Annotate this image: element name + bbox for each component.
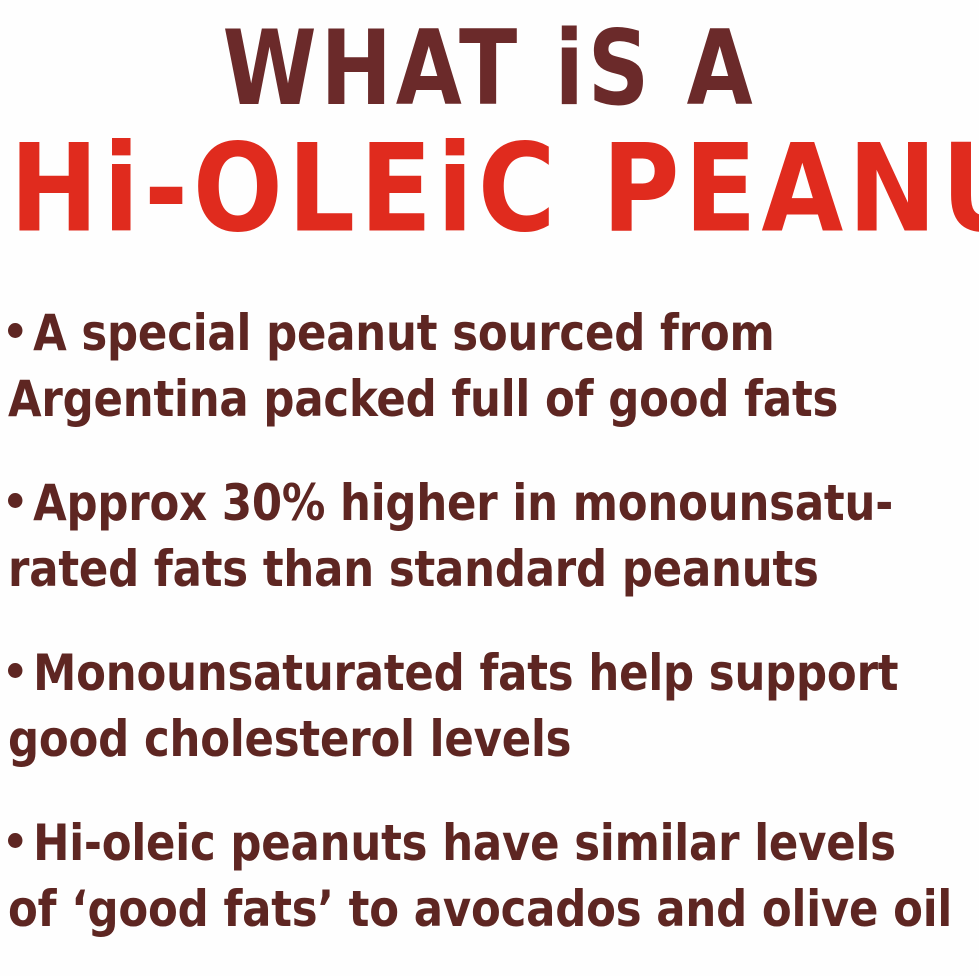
bullet-line-continuation: rated fats than standard peanuts: [8, 536, 942, 602]
list-item: Monounsaturated fats help support good c…: [8, 640, 942, 772]
benefit-bullet-list: A special peanut sourced from Argentina …: [8, 300, 976, 942]
bullet-dot-icon: [8, 323, 22, 338]
bullet-line-continuation: good cholesterol levels: [8, 706, 942, 772]
page-title-line-2: Hi-OLEiC PEANUT?: [10, 124, 969, 256]
bullet-text: Monounsaturated fats help support: [33, 644, 898, 702]
page-title: WHAT iS A Hi-OLEiC PEANUT?: [0, 0, 979, 242]
bullet-dot-icon: [8, 493, 22, 508]
list-item: Approx 30% higher in monounsatu- rated f…: [8, 470, 942, 602]
bullet-dot-icon: [8, 833, 22, 848]
bullet-line-first: Approx 30% higher in monounsatu-: [8, 470, 942, 536]
bullet-line-first: Hi-oleic peanuts have similar levels: [8, 810, 942, 876]
bullet-line-first: Monounsaturated fats help support: [8, 640, 942, 706]
page-title-line-1: WHAT iS A: [15, 0, 965, 130]
list-item: Hi-oleic peanuts have similar levels of …: [8, 810, 942, 942]
bullet-text: Hi-oleic peanuts have similar levels: [33, 814, 896, 872]
bullet-dot-icon: [8, 663, 22, 678]
bullet-line-first: A special peanut sourced from: [8, 300, 942, 366]
bullet-text: A special peanut sourced from: [33, 304, 775, 362]
bullet-line-continuation: of ‘good fats’ to avocados and olive oil: [8, 876, 942, 942]
infographic-root: WHAT iS A Hi-OLEiC PEANUT? A special pea…: [0, 0, 979, 976]
bullet-line-continuation: Argentina packed full of good fats: [8, 366, 942, 432]
bullet-text: Approx 30% higher in monounsatu-: [33, 474, 893, 532]
list-item: A special peanut sourced from Argentina …: [8, 300, 942, 432]
